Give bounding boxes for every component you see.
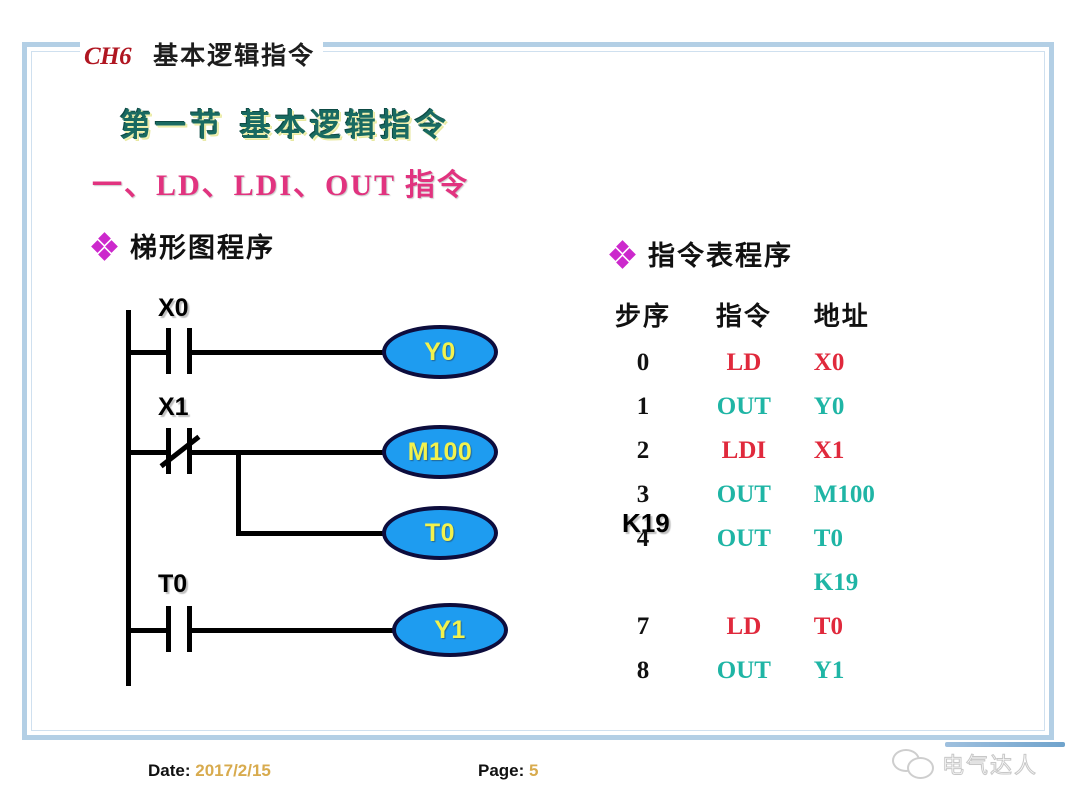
cell-address: T0 (802, 517, 930, 561)
instruction-list-table: 步序 指令 地址 0 LD X0 1 OUT Y0 2 LDI X1 3 (600, 296, 930, 693)
table-row: K19 (600, 561, 930, 605)
wechat-icon (892, 749, 934, 779)
cell-instruction: OUT (686, 649, 802, 693)
coil-y1: Y1 (392, 603, 508, 657)
watermark-accent-bar (945, 742, 1065, 747)
slide-header: CH6 基本逻辑指令 (80, 36, 323, 72)
coil-m100-label: M100 (408, 438, 473, 467)
cell-step: 0 (600, 341, 686, 385)
instruction-list-heading: 指令表程序 (610, 234, 793, 273)
coil-y0-label: Y0 (424, 338, 456, 367)
ladder-section-heading: 梯形图程序 (92, 226, 275, 265)
cell-address: M100 (802, 473, 930, 517)
coil-m100: M100 (382, 425, 498, 479)
coil-y0: Y0 (382, 325, 498, 379)
footer-date: Date: 2017/2/15 (148, 761, 271, 781)
rung3-wire-right (192, 628, 400, 633)
ladder-heading-label: 梯形图程序 (130, 226, 275, 265)
cell-instruction: OUT (686, 385, 802, 429)
diamond-bullet-icon (610, 241, 636, 267)
cell-instruction: OUT (686, 473, 802, 517)
rung3-wire-left (126, 628, 166, 633)
cell-address: Y0 (802, 385, 930, 429)
rung2-wire-right (192, 450, 392, 455)
cell-instruction: LD (686, 341, 802, 385)
section-title: 第一节 基本逻辑指令 (120, 100, 450, 145)
table-row: 0 LD X0 (600, 341, 930, 385)
ladder-diagram: X0 Y0 X1 M100 T0 K19 T0 Y1 (110, 290, 590, 700)
contact-label-t0: T0 (158, 570, 187, 599)
watermark-text: 电气达人 (942, 748, 1038, 780)
chapter-label: CH6 (84, 43, 131, 71)
cell-address: T0 (802, 605, 930, 649)
table-row: 1 OUT Y0 (600, 385, 930, 429)
contact-x0-normally-open (162, 328, 196, 374)
coil-y1-label: Y1 (434, 616, 466, 645)
table-row: 7 LD T0 (600, 605, 930, 649)
contact-t0-normally-open (162, 606, 196, 652)
cell-address: X1 (802, 429, 930, 473)
cell-address: K19 (802, 561, 930, 605)
table-row: 4 OUT T0 (600, 517, 930, 561)
cell-step: 3 (600, 473, 686, 517)
footer-date-label: Date: (148, 761, 191, 780)
subsection-title: 一、LD、LDI、OUT 指令 (92, 160, 469, 204)
table-row: 8 OUT Y1 (600, 649, 930, 693)
rung2-wire-left (126, 450, 166, 455)
contact-label-x1: X1 (158, 393, 189, 422)
column-header-instruction: 指令 (686, 296, 802, 341)
rung1-wire-left (126, 350, 166, 355)
cell-step: 1 (600, 385, 686, 429)
contact-label-x0: X0 (158, 294, 189, 323)
cell-instruction (686, 561, 802, 605)
footer-date-value: 2017/2/15 (195, 761, 271, 780)
cell-instruction: LDI (686, 429, 802, 473)
column-header-address: 地址 (802, 296, 930, 341)
cell-step (600, 561, 686, 605)
diamond-bullet-icon (92, 233, 118, 259)
cell-step: 2 (600, 429, 686, 473)
cell-step: 8 (600, 649, 686, 693)
footer-page-label: Page: (478, 761, 524, 780)
branch-horizontal-wire (236, 531, 392, 536)
header-title: 基本逻辑指令 (153, 36, 315, 72)
cell-instruction: OUT (686, 517, 802, 561)
contact-x1-normally-closed (162, 428, 196, 474)
coil-t0: T0 (382, 506, 498, 560)
rung1-wire-right (192, 350, 392, 355)
instruction-list-heading-label: 指令表程序 (648, 234, 793, 273)
table-row: 3 OUT M100 (600, 473, 930, 517)
coil-t0-label: T0 (425, 519, 455, 548)
cell-instruction: LD (686, 605, 802, 649)
branch-vertical-wire (236, 450, 241, 536)
watermark: 电气达人 (892, 748, 1038, 780)
cell-step: 7 (600, 605, 686, 649)
cell-address: X0 (802, 341, 930, 385)
table-row: 2 LDI X1 (600, 429, 930, 473)
column-header-step: 步序 (600, 296, 686, 341)
footer-page-value: 5 (529, 761, 538, 780)
cell-address: Y1 (802, 649, 930, 693)
cell-step: 4 (600, 517, 686, 561)
footer-page: Page: 5 (478, 761, 539, 781)
table-header-row: 步序 指令 地址 (600, 296, 930, 341)
